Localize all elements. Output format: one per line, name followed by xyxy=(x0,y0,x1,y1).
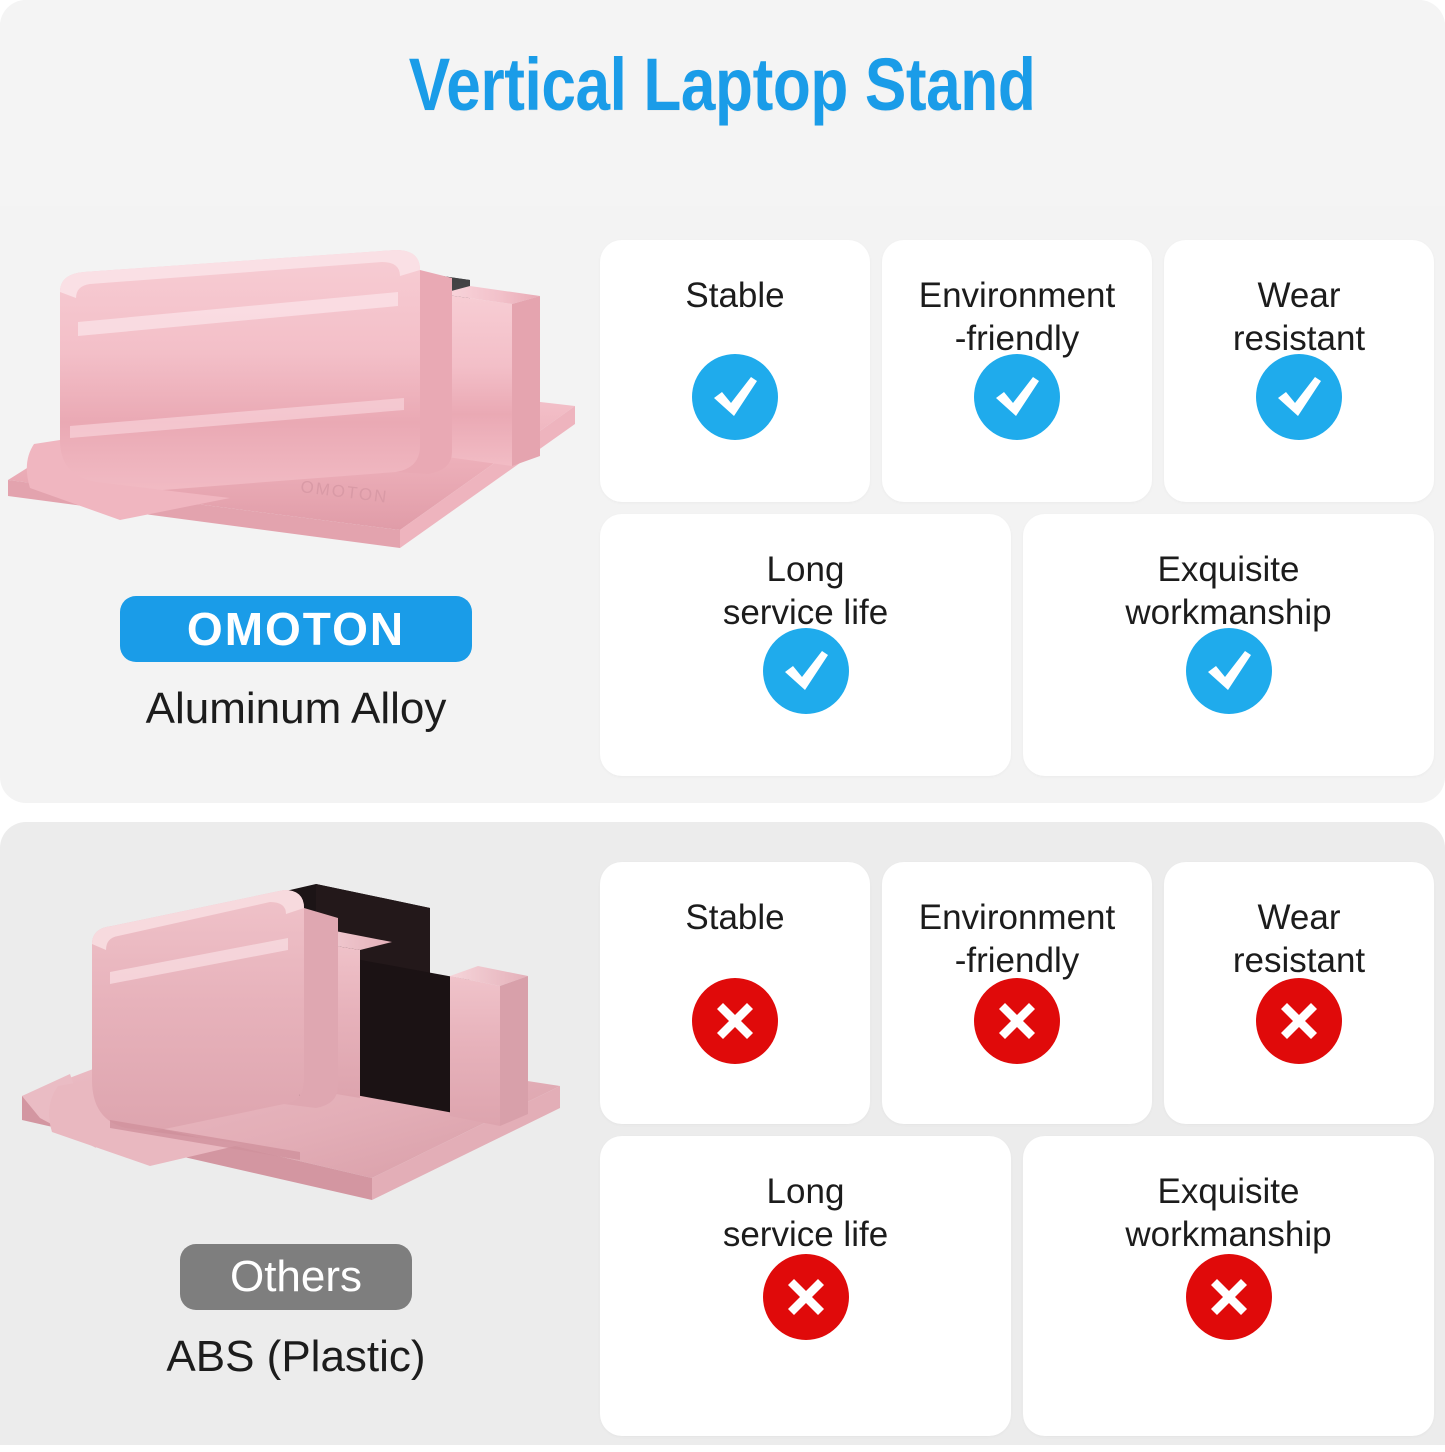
cross-glyph xyxy=(782,1273,830,1321)
feature-card-exquisite-workmanship[interactable]: Exquisite workmanship xyxy=(1023,514,1434,776)
check-glyph xyxy=(1274,375,1324,419)
feature-label: Exquisite workmanship xyxy=(1117,1170,1339,1256)
feature-label: Environment -friendly xyxy=(911,896,1123,982)
cross-icon xyxy=(974,978,1060,1064)
cross-glyph xyxy=(1205,1273,1253,1321)
brand-badge-others: Others xyxy=(180,1244,412,1310)
feature-row-2: Long service life Exquisite workmanship xyxy=(600,1136,1435,1436)
cross-icon xyxy=(692,978,778,1064)
product-image-others xyxy=(0,848,592,1238)
check-icon xyxy=(1186,628,1272,714)
cross-glyph xyxy=(993,997,1041,1045)
check-icon xyxy=(1256,354,1342,440)
plastic-stand-illustration xyxy=(0,848,592,1238)
feature-label: Stable xyxy=(677,896,792,939)
check-icon xyxy=(763,628,849,714)
cross-icon xyxy=(1256,978,1342,1064)
feature-label: Long service life xyxy=(715,548,896,634)
feature-card-environment-friendly[interactable]: Environment -friendly xyxy=(882,862,1152,1124)
material-label-others: ABS (Plastic) xyxy=(166,1332,425,1382)
feature-card-wear-resistant[interactable]: Wear resistant xyxy=(1164,862,1434,1124)
cross-icon xyxy=(1186,1254,1272,1340)
feature-card-stable[interactable]: Stable xyxy=(600,862,870,1124)
material-label-omoton: Aluminum Alloy xyxy=(146,684,447,734)
feature-card-long-service-life[interactable]: Long service life xyxy=(600,514,1011,776)
aluminum-stand-illustration: OMOTON xyxy=(0,230,592,590)
feature-label: Exquisite workmanship xyxy=(1117,548,1339,634)
check-icon xyxy=(974,354,1060,440)
feature-label: Long service life xyxy=(715,1170,896,1256)
cross-glyph xyxy=(711,997,759,1045)
brand-badge-omoton: OMOTON xyxy=(120,596,472,662)
feature-card-stable[interactable]: Stable xyxy=(600,240,870,502)
feature-card-long-service-life[interactable]: Long service life xyxy=(600,1136,1011,1436)
feature-card-exquisite-workmanship[interactable]: Exquisite workmanship xyxy=(1023,1136,1434,1436)
feature-label: Wear resistant xyxy=(1225,896,1373,982)
feature-row-1: Stable Environment -friendly Wear resist… xyxy=(600,862,1435,1124)
check-glyph xyxy=(992,375,1042,419)
check-glyph xyxy=(781,649,831,693)
feature-label: Stable xyxy=(677,274,792,317)
product-block-omoton: OMOTON OMOTON Aluminum Alloy xyxy=(0,230,592,790)
brand-badge-row-omoton: OMOTON Aluminum Alloy xyxy=(0,596,592,734)
infographic-page: Vertical Laptop Stand xyxy=(0,0,1445,1445)
feature-row-2: Long service life Exquisite workmanship xyxy=(600,514,1435,776)
cross-glyph xyxy=(1275,997,1323,1045)
feature-label: Wear resistant xyxy=(1225,274,1373,360)
cross-icon xyxy=(763,1254,849,1340)
title-band: Vertical Laptop Stand xyxy=(0,0,1445,206)
check-glyph xyxy=(1204,649,1254,693)
feature-card-wear-resistant[interactable]: Wear resistant xyxy=(1164,240,1434,502)
feature-card-environment-friendly[interactable]: Environment -friendly xyxy=(882,240,1152,502)
product-block-others: Others ABS (Plastic) xyxy=(0,848,592,1448)
page-title: Vertical Laptop Stand xyxy=(409,46,1036,124)
check-glyph xyxy=(710,375,760,419)
brand-badge-row-others: Others ABS (Plastic) xyxy=(0,1244,592,1382)
feature-grid-omoton: Stable Environment -friendly Wear resist… xyxy=(600,240,1435,778)
product-image-omoton: OMOTON xyxy=(0,230,592,590)
feature-row-1: Stable Environment -friendly Wear resist… xyxy=(600,240,1435,502)
feature-label: Environment -friendly xyxy=(911,274,1123,360)
feature-grid-others: Stable Environment -friendly Wear resist… xyxy=(600,862,1435,1452)
check-icon xyxy=(692,354,778,440)
